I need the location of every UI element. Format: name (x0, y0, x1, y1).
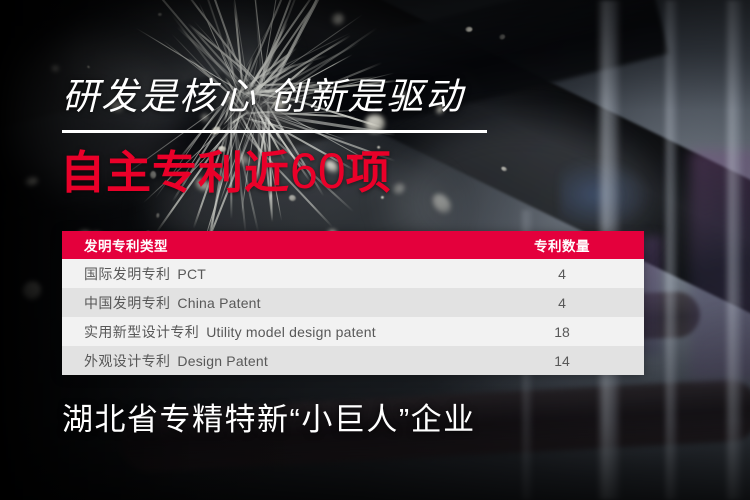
patent-type-en: China Patent (177, 295, 260, 311)
cell-patent-type: 中国发明专利China Patent (62, 288, 502, 317)
cell-patent-type: 外观设计专利Design Patent (62, 346, 502, 375)
headline-secondary-number: 60 (290, 143, 346, 199)
cell-patent-count: 14 (502, 346, 644, 375)
patent-type-cn: 国际发明专利 (84, 266, 170, 282)
headline-divider (62, 130, 487, 133)
table-body: 国际发明专利PCT4中国发明专利China Patent4实用新型设计专利Uti… (62, 259, 644, 375)
column-header-count: 专利数量 (502, 231, 644, 259)
patent-type-en: Design Patent (177, 353, 268, 369)
patent-type-cn: 外观设计专利 (84, 353, 170, 369)
table-header: 发明专利类型 专利数量 (62, 231, 644, 259)
headline-secondary-prefix: 自主专利近 (60, 147, 290, 198)
patent-type-cn: 实用新型设计专利 (84, 324, 199, 340)
patent-type-en: Utility model design patent (206, 324, 376, 340)
patent-type-en: PCT (177, 266, 206, 282)
cell-patent-count: 18 (502, 317, 644, 346)
patent-banner: 研发是核心 创新是驱动 自主专利近60项 发明专利类型 专利数量 国际发明专利P… (0, 0, 750, 500)
cell-patent-count: 4 (502, 288, 644, 317)
patent-statistics-table: 发明专利类型 专利数量 国际发明专利PCT4中国发明专利China Patent… (62, 231, 644, 375)
table-row: 外观设计专利Design Patent14 (62, 346, 644, 375)
table-row: 国际发明专利PCT4 (62, 259, 644, 288)
cell-patent-count: 4 (502, 259, 644, 288)
table-row: 中国发明专利China Patent4 (62, 288, 644, 317)
cell-patent-type: 实用新型设计专利Utility model design patent (62, 317, 502, 346)
headline-secondary: 自主专利近60项 (60, 146, 392, 196)
table-row: 实用新型设计专利Utility model design patent18 (62, 317, 644, 346)
banner-content: 研发是核心 创新是驱动 自主专利近60项 发明专利类型 专利数量 国际发明专利P… (0, 0, 750, 500)
headline-secondary-suffix: 项 (346, 147, 392, 198)
cell-patent-type: 国际发明专利PCT (62, 259, 502, 288)
headline-primary: 研发是核心 创新是驱动 (62, 78, 464, 115)
table-header-row: 发明专利类型 专利数量 (62, 231, 644, 259)
patent-type-cn: 中国发明专利 (84, 295, 170, 311)
footer-caption: 湖北省专精特新“小巨人”企业 (62, 404, 476, 435)
column-header-type: 发明专利类型 (62, 231, 502, 259)
